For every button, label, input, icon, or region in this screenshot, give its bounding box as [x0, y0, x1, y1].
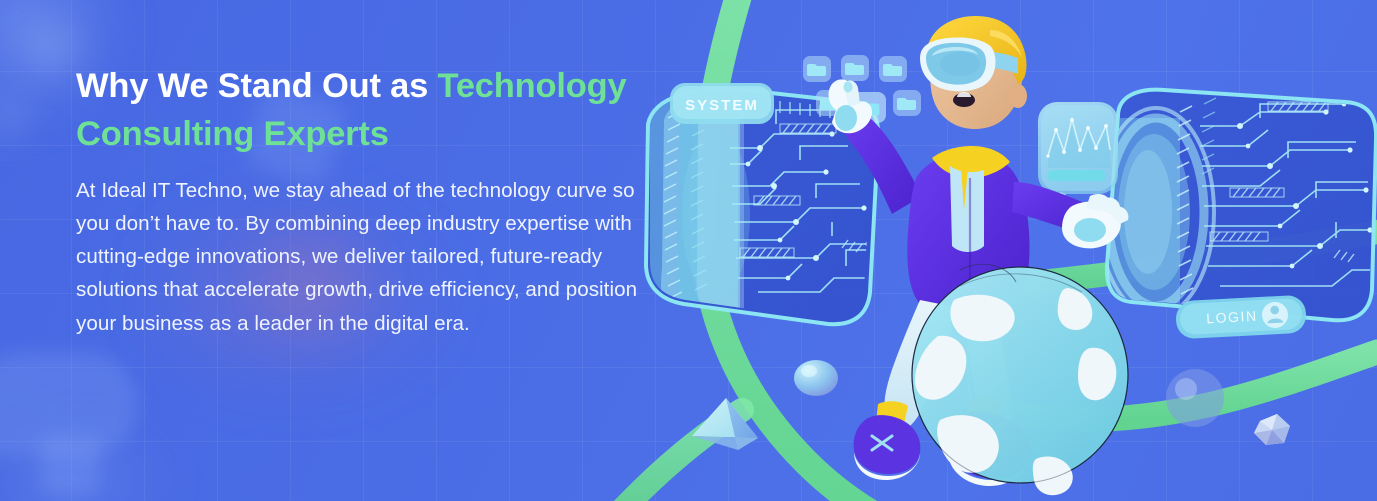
sphere-shape — [794, 360, 838, 396]
chat-dot — [6, 388, 25, 407]
circuit-panel-right — [1098, 90, 1376, 321]
login-badge[interactable]: LOGIN — [1175, 295, 1307, 340]
pointing-hand — [829, 79, 872, 133]
pyramid-shape — [692, 398, 758, 450]
background-blob — [0, 92, 40, 154]
page-title: Why We Stand Out as TechnologyConsulting… — [76, 62, 656, 159]
hero-section: Why We Stand Out as TechnologyConsulting… — [0, 0, 1377, 501]
folder-icon[interactable] — [893, 90, 921, 116]
polyhedron-shape — [1254, 414, 1290, 445]
hero-copy: Why We Stand Out as TechnologyConsulting… — [76, 62, 656, 340]
headline-accent-consulting: Consulting Experts — [76, 115, 389, 153]
analytics-card-bar — [1048, 170, 1106, 181]
hero-paragraph: At Ideal IT Techno, we stay ahead of the… — [76, 174, 656, 340]
headline-lead: Why We Stand Out as — [76, 67, 438, 105]
globe — [912, 264, 1128, 495]
headline-accent-technology: Technology — [438, 67, 627, 105]
folder-icon[interactable] — [841, 55, 869, 81]
character-head — [920, 16, 1027, 129]
chat-dot — [40, 404, 59, 423]
login-badge-label: LOGIN — [1206, 308, 1258, 327]
chat-bubble-decoration — [0, 352, 138, 456]
system-badge[interactable]: SYSTEM — [670, 83, 774, 124]
system-badge-label: SYSTEM — [685, 97, 759, 114]
folder-icon[interactable] — [803, 56, 831, 82]
hero-illustration: SYSTEM LOGIN — [620, 0, 1377, 501]
folder-icon[interactable] — [879, 56, 907, 82]
chat-dot — [74, 418, 93, 437]
sphere-shape — [1166, 369, 1224, 427]
